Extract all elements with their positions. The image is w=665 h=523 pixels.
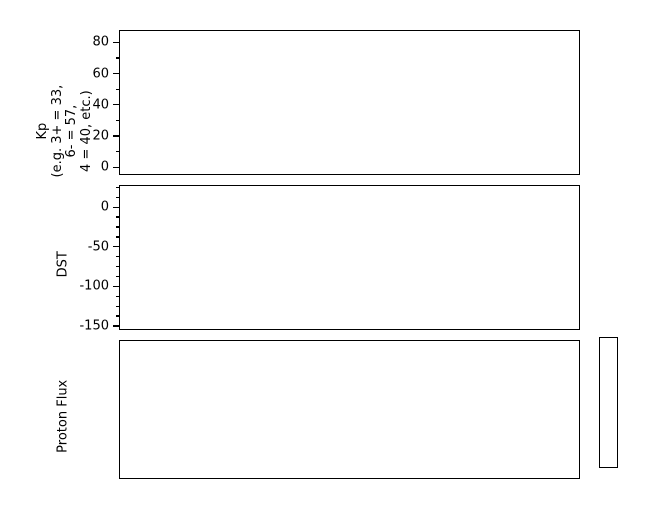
y-tick-label: 60 — [53, 66, 109, 81]
colorbar — [599, 337, 618, 468]
y-tick-label: -150 — [53, 319, 109, 334]
y-major-tick — [113, 135, 119, 136]
panel-dst — [119, 185, 580, 330]
y-minor-tick — [116, 187, 120, 188]
y-major-tick — [113, 325, 119, 326]
y-major-tick — [113, 104, 119, 105]
y-tick-label: 40 — [53, 97, 109, 112]
y-minor-tick — [116, 197, 120, 198]
y-major-tick — [113, 286, 119, 287]
y-minor-tick — [116, 306, 120, 307]
y-minor-tick — [116, 216, 120, 217]
y-minor-tick — [116, 315, 120, 316]
y-minor-tick — [116, 226, 120, 227]
y-major-tick — [113, 73, 119, 74]
panel-kp — [119, 30, 580, 175]
y-tick-label: -50 — [53, 239, 109, 254]
proton-flux-spectrogram — [120, 341, 581, 480]
y-minor-tick — [116, 276, 120, 277]
y-tick-label: 20 — [53, 129, 109, 144]
y-minor-tick — [116, 57, 120, 58]
y-minor-tick — [116, 236, 120, 237]
y-minor-tick — [116, 151, 120, 152]
proton-flux-axis-label: Proton Flux — [57, 361, 72, 471]
y-minor-tick — [116, 89, 120, 90]
y-minor-tick — [116, 266, 120, 267]
y-tick-label: 80 — [53, 35, 109, 50]
dst-series — [120, 186, 581, 331]
y-minor-tick — [116, 256, 120, 257]
y-tick-label: 0 — [53, 160, 109, 175]
kp-series — [120, 31, 581, 176]
y-tick-label: -100 — [53, 279, 109, 294]
y-tick-label: 0 — [53, 200, 109, 215]
y-major-tick — [113, 42, 119, 43]
y-major-tick — [113, 246, 119, 247]
panel-proton-flux — [119, 340, 580, 479]
y-minor-tick — [116, 296, 120, 297]
y-major-tick — [113, 207, 119, 208]
y-minor-tick — [116, 120, 120, 121]
dst-axis-label: DST — [57, 219, 72, 309]
y-major-tick — [113, 167, 119, 168]
figure-canvas: Kp(e.g. 3+ = 33,6- = 57,4 = 40, etc.) 02… — [0, 0, 665, 523]
